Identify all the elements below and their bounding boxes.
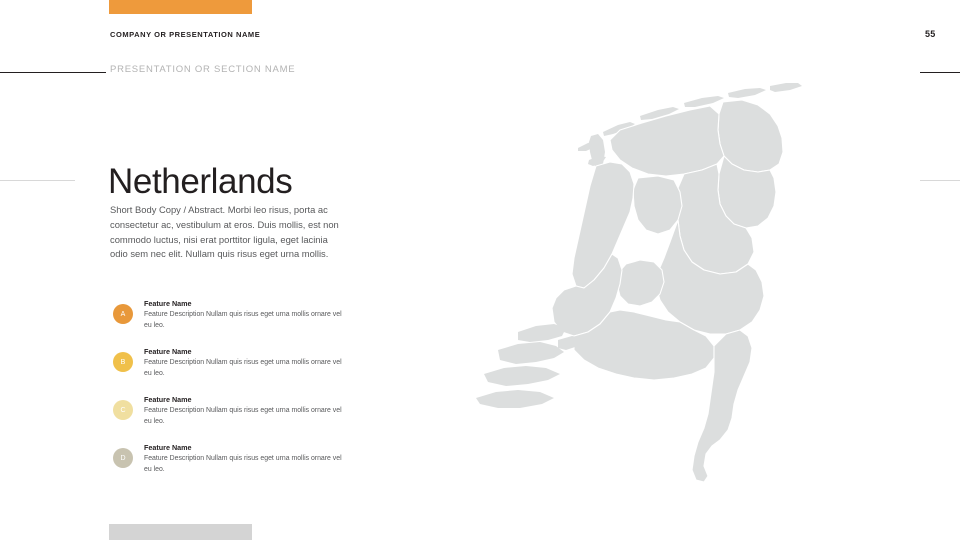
feature-title: Feature Name — [144, 394, 344, 405]
feature-text: Feature Name Feature Description Nullam … — [144, 298, 344, 332]
page-number: 55 — [925, 29, 936, 39]
list-item[interactable]: C Feature Name Feature Description Nulla… — [110, 394, 345, 442]
feature-title: Feature Name — [144, 346, 344, 357]
list-item[interactable]: B Feature Name Feature Description Nulla… — [110, 346, 345, 394]
feature-text: Feature Name Feature Description Nullam … — [144, 394, 344, 428]
rule-dark-left — [0, 72, 106, 73]
bottom-accent-bar — [109, 524, 252, 540]
feature-description: Feature Description Nullam quis risus eg… — [144, 309, 344, 332]
company-name: COMPANY OR PRESENTATION NAME — [110, 30, 260, 39]
section-name: PRESENTATION OR SECTION NAME — [110, 64, 295, 75]
rule-dark-right — [920, 72, 960, 73]
feature-description: Feature Description Nullam quis risus eg… — [144, 405, 344, 428]
feature-text: Feature Name Feature Description Nullam … — [144, 346, 344, 380]
list-item[interactable]: D Feature Name Feature Description Nulla… — [110, 442, 345, 490]
rule-light-right — [920, 180, 960, 181]
province-utrecht[interactable] — [617, 260, 664, 306]
feature-title: Feature Name — [144, 298, 344, 309]
rule-light-left — [0, 180, 75, 181]
feature-list: A Feature Name Feature Description Nulla… — [110, 298, 345, 490]
map-svg — [470, 78, 830, 493]
feature-badge-c: C — [113, 400, 133, 420]
feature-badge-a: A — [113, 304, 133, 324]
slide: COMPANY OR PRESENTATION NAME 55 PRESENTA… — [0, 0, 960, 540]
province-zeeland[interactable] — [476, 324, 582, 408]
feature-description: Feature Description Nullam quis risus eg… — [144, 453, 344, 476]
feature-title: Feature Name — [144, 442, 344, 453]
feature-text: Feature Name Feature Description Nullam … — [144, 442, 344, 476]
feature-badge-b: B — [113, 352, 133, 372]
list-item[interactable]: A Feature Name Feature Description Nulla… — [110, 298, 345, 346]
feature-badge-d: D — [113, 448, 133, 468]
page-title: Netherlands — [108, 164, 292, 199]
feature-description: Feature Description Nullam quis risus eg… — [144, 357, 344, 380]
top-accent-bar — [109, 0, 252, 14]
province-flevoland[interactable] — [633, 176, 682, 234]
netherlands-map[interactable] — [470, 78, 830, 493]
body-copy: Short Body Copy / Abstract. Morbi leo ri… — [110, 203, 342, 261]
province-friesland[interactable] — [610, 106, 724, 176]
